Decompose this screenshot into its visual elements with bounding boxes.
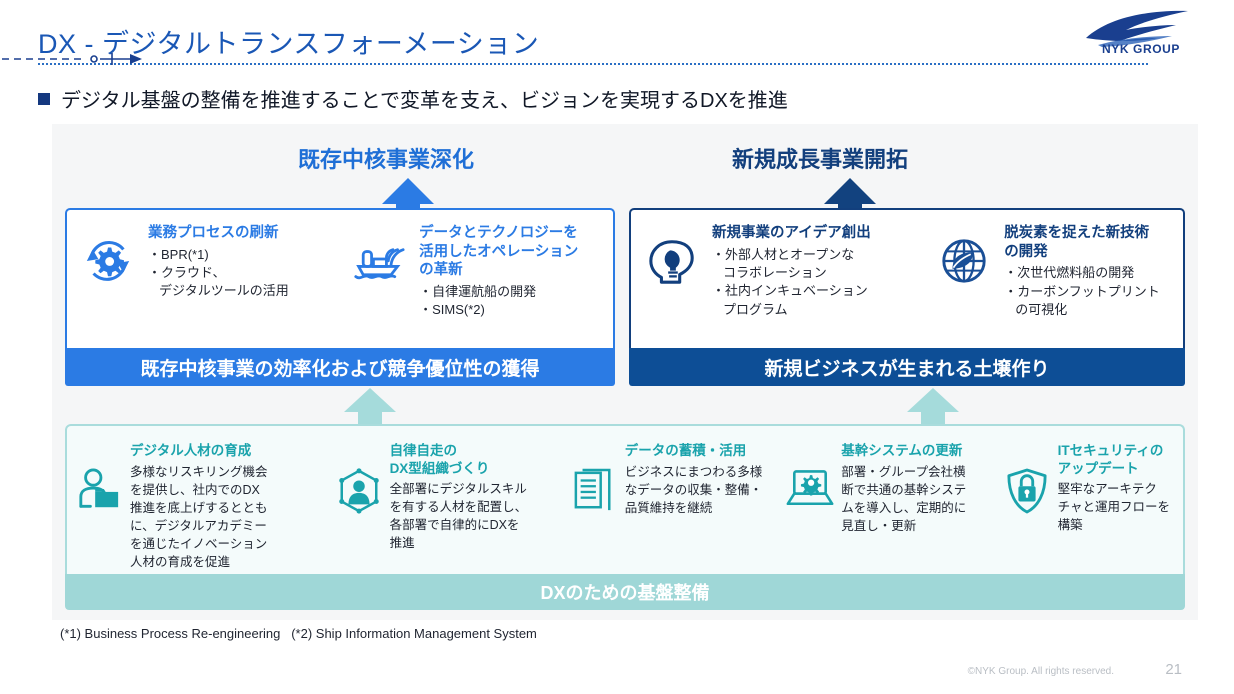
item-body: 部署・グループ会社横 断で共通の基幹システ ムを導入し、定期的に 見直し・更新 [841, 463, 966, 536]
item-new-business-ideas: 新規事業のアイデア創出 ・外部人材とオープンな コラボレーション ・社内インキュ… [631, 210, 923, 348]
gear-refresh-icon [77, 224, 139, 348]
copyright-text: ©NYK Group. All rights reserved. [968, 666, 1114, 677]
card-body: 新規事業のアイデア創出 ・外部人材とオープンな コラボレーション ・社内インキュ… [629, 208, 1185, 348]
bullet: ・カーボンフットプリント の可視化 [1004, 283, 1177, 320]
item-bullet-list: ・外部人材とオープンな コラボレーション ・社内インキュベーション プログラム [712, 246, 917, 320]
bullet: ・外部人材とオープンな コラボレーション [712, 246, 917, 283]
card-existing-core-business: 業務プロセスの刷新 ・BPR(*1) ・クラウド、 デジタルツールの活用 [65, 208, 615, 388]
item-body: 多様なリスキリング機会 を提供し、社内でのDX 推進を底上げするととも に、デジ… [130, 463, 268, 572]
page-number: 21 [1165, 661, 1182, 678]
foundation-item-digital-talent: デジタル人材の育成 多様なリスキリング機会 を提供し、社内でのDX 推進を底上げ… [67, 426, 327, 574]
footnotes: (*1) Business Process Re-engineering (*2… [60, 626, 537, 641]
foundation-panel: デジタル人材の育成 多様なリスキリング機会 を提供し、社内でのDX 推進を底上げ… [65, 424, 1185, 574]
globe-leaf-icon [933, 224, 995, 348]
item-decarbonization-technology: 脱炭素を捉えた新技術 の開発 ・次世代燃料船の開発 ・カーボンフットプリント の… [923, 210, 1183, 348]
item-bullet-list: ・自律運航船の開発 ・SIMS(*2) [419, 283, 607, 320]
item-data-technology-operations: データとテクノロジーを 活用したオペレーション の革新 ・自律運航船の開発 ・S… [338, 210, 613, 348]
documents-icon [570, 442, 618, 574]
item-business-process-renewal: 業務プロセスの刷新 ・BPR(*1) ・クラウド、 デジタルツールの活用 [67, 210, 338, 348]
foundation-bar-label: DXのための基盤整備 [65, 574, 1185, 610]
column-heading-existing-core: 既存中核事業深化 [298, 142, 474, 174]
item-heading: データとテクノロジーを 活用したオペレーション の革新 [419, 224, 607, 280]
shield-lock-icon [1003, 442, 1051, 574]
teal-up-arrow-icon-right [905, 388, 961, 424]
person-hexagon-network-icon [335, 442, 383, 574]
column-heading-new-growth: 新規成長事業開拓 [732, 142, 908, 174]
item-heading: 自律自走の DX型組織づくり [390, 442, 528, 477]
head-lightbulb-icon [641, 224, 703, 348]
card-bar-label: 新規ビジネスが生まれる土壌作り [629, 348, 1185, 386]
smart-ship-icon [348, 224, 410, 348]
person-folder-icon [75, 442, 123, 574]
square-bullet-icon [38, 93, 50, 105]
foundation-item-core-system-update: 基幹システムの更新 部署・グループ会社横 断で共通の基幹システ ムを導入し、定期… [778, 426, 994, 574]
foundation-item-data-accumulation: データの蓄積・活用 ビジネスにまつわる多様 なデータの収集・整備・ 品質維持を継… [562, 426, 778, 574]
item-heading: ITセキュリティの アップデート [1058, 442, 1170, 477]
subtitle-text: デジタル基盤の整備を推進することで変革を支え、ビジョンを実現するDXを推進 [61, 84, 788, 113]
item-heading: 基幹システムの更新 [841, 442, 966, 460]
foundation-item-autonomous-organization: 自律自走の DX型組織づくり 全部署にデジタルスキル を有する人材を配置し、 各… [327, 426, 562, 574]
bullet: ・クラウド、 デジタルツールの活用 [148, 264, 332, 301]
bullet: ・社内インキュベーション プログラム [712, 282, 917, 319]
bullet: ・自律運航船の開発 [419, 283, 607, 301]
foundation-item-it-security: ITセキュリティの アップデート 堅牢なアーキテク チャと運用フローを 構築 [995, 426, 1183, 574]
card-bar-label: 既存中核事業の効率化および競争優位性の獲得 [65, 348, 615, 386]
subtitle-row: デジタル基盤の整備を推進することで変革を支え、ビジョンを実現するDXを推進 [38, 84, 788, 113]
teal-up-arrow-icon-left [342, 388, 398, 424]
bullet: ・BPR(*1) [148, 246, 332, 264]
item-bullet-list: ・BPR(*1) ・クラウド、 デジタルツールの活用 [148, 246, 332, 301]
title-divider [38, 63, 1148, 65]
nyk-group-logo: NYK GROUP [1068, 8, 1208, 66]
laptop-gear-icon [786, 442, 834, 574]
nyk-wing-logo [1068, 8, 1208, 66]
item-body: ビジネスにまつわる多様 なデータの収集・整備・ 品質維持を継続 [625, 463, 763, 517]
item-bullet-list: ・次世代燃料船の開発 ・カーボンフットプリント の可視化 [1004, 264, 1177, 319]
anchor-arrow-line-icon [0, 52, 150, 66]
item-heading: データの蓄積・活用 [625, 442, 763, 460]
bullet: ・SIMS(*2) [419, 301, 607, 319]
card-new-growth-business: 新規事業のアイデア創出 ・外部人材とオープンな コラボレーション ・社内インキュ… [629, 208, 1185, 388]
item-body: 堅牢なアーキテク チャと運用フローを 構築 [1058, 480, 1170, 534]
logo-wordmark: NYK GROUP [1086, 42, 1196, 56]
item-heading: 新規事業のアイデア創出 [712, 224, 917, 243]
item-heading: デジタル人材の育成 [130, 442, 268, 460]
content-panel: 既存中核事業深化 新規成長事業開拓 [52, 124, 1198, 620]
page-header: DX - デジタルトランスフォーメーション NYK GROUP [0, 0, 1234, 76]
bullet: ・次世代燃料船の開発 [1004, 264, 1177, 282]
card-body: 業務プロセスの刷新 ・BPR(*1) ・クラウド、 デジタルツールの活用 [65, 208, 615, 348]
item-heading: 業務プロセスの刷新 [148, 224, 332, 243]
item-body: 全部署にデジタルスキル を有する人材を配置し、 各部署で自律的にDXを 推進 [390, 480, 528, 553]
item-heading: 脱炭素を捉えた新技術 の開発 [1004, 224, 1177, 261]
